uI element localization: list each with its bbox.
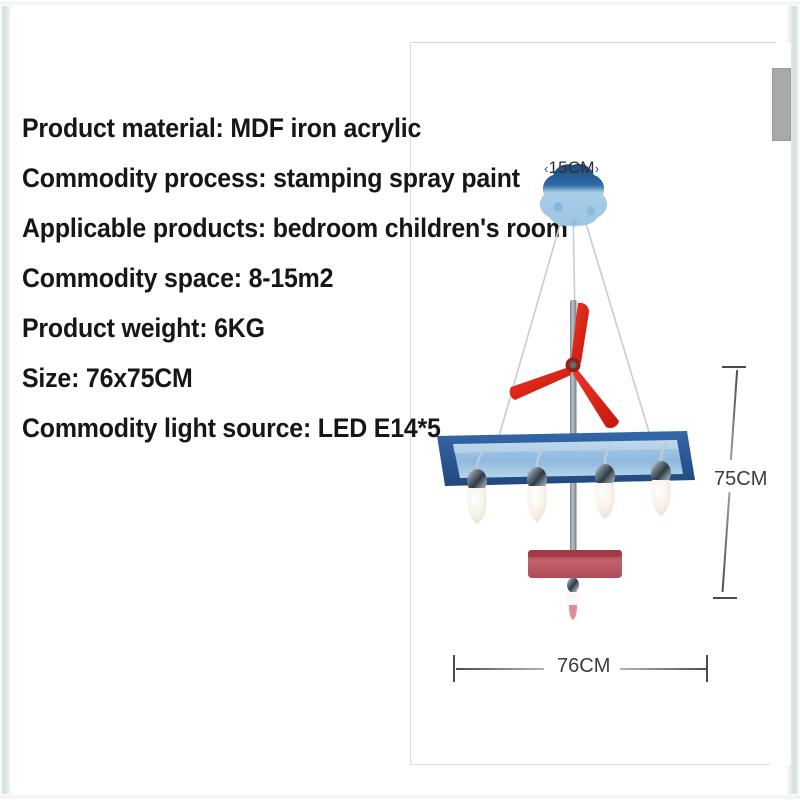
dim-tick-right: › <box>595 161 600 176</box>
dimension-line-left <box>456 668 544 670</box>
dimension-label-width: 76CM <box>557 655 610 678</box>
dim-value-canopy: 15CM <box>549 158 595 177</box>
dimension-label-height: 75CM <box>714 468 767 491</box>
product-spec-image: Product material: MDF iron acrylic Commo… <box>0 0 800 800</box>
frame-edge-left <box>0 0 11 800</box>
propeller <box>510 303 619 428</box>
dimension-line-right <box>620 668 708 670</box>
scrollbar-thumb[interactable] <box>772 68 791 141</box>
tail-lamp <box>567 578 579 621</box>
dimension-cap-left <box>453 655 455 682</box>
frame-edge-bottom <box>0 794 800 800</box>
scrollbar-track[interactable] <box>771 43 791 765</box>
dimension-cap-right <box>706 655 708 682</box>
dimension-cap-bottom <box>713 597 737 599</box>
frame-edge-top <box>0 0 800 6</box>
dimension-label-canopy: ‹15CM› <box>544 158 599 178</box>
airplane-chandelier-illustration <box>415 145 755 645</box>
tail-plane <box>528 550 622 578</box>
dimension-cap-top <box>722 366 746 368</box>
